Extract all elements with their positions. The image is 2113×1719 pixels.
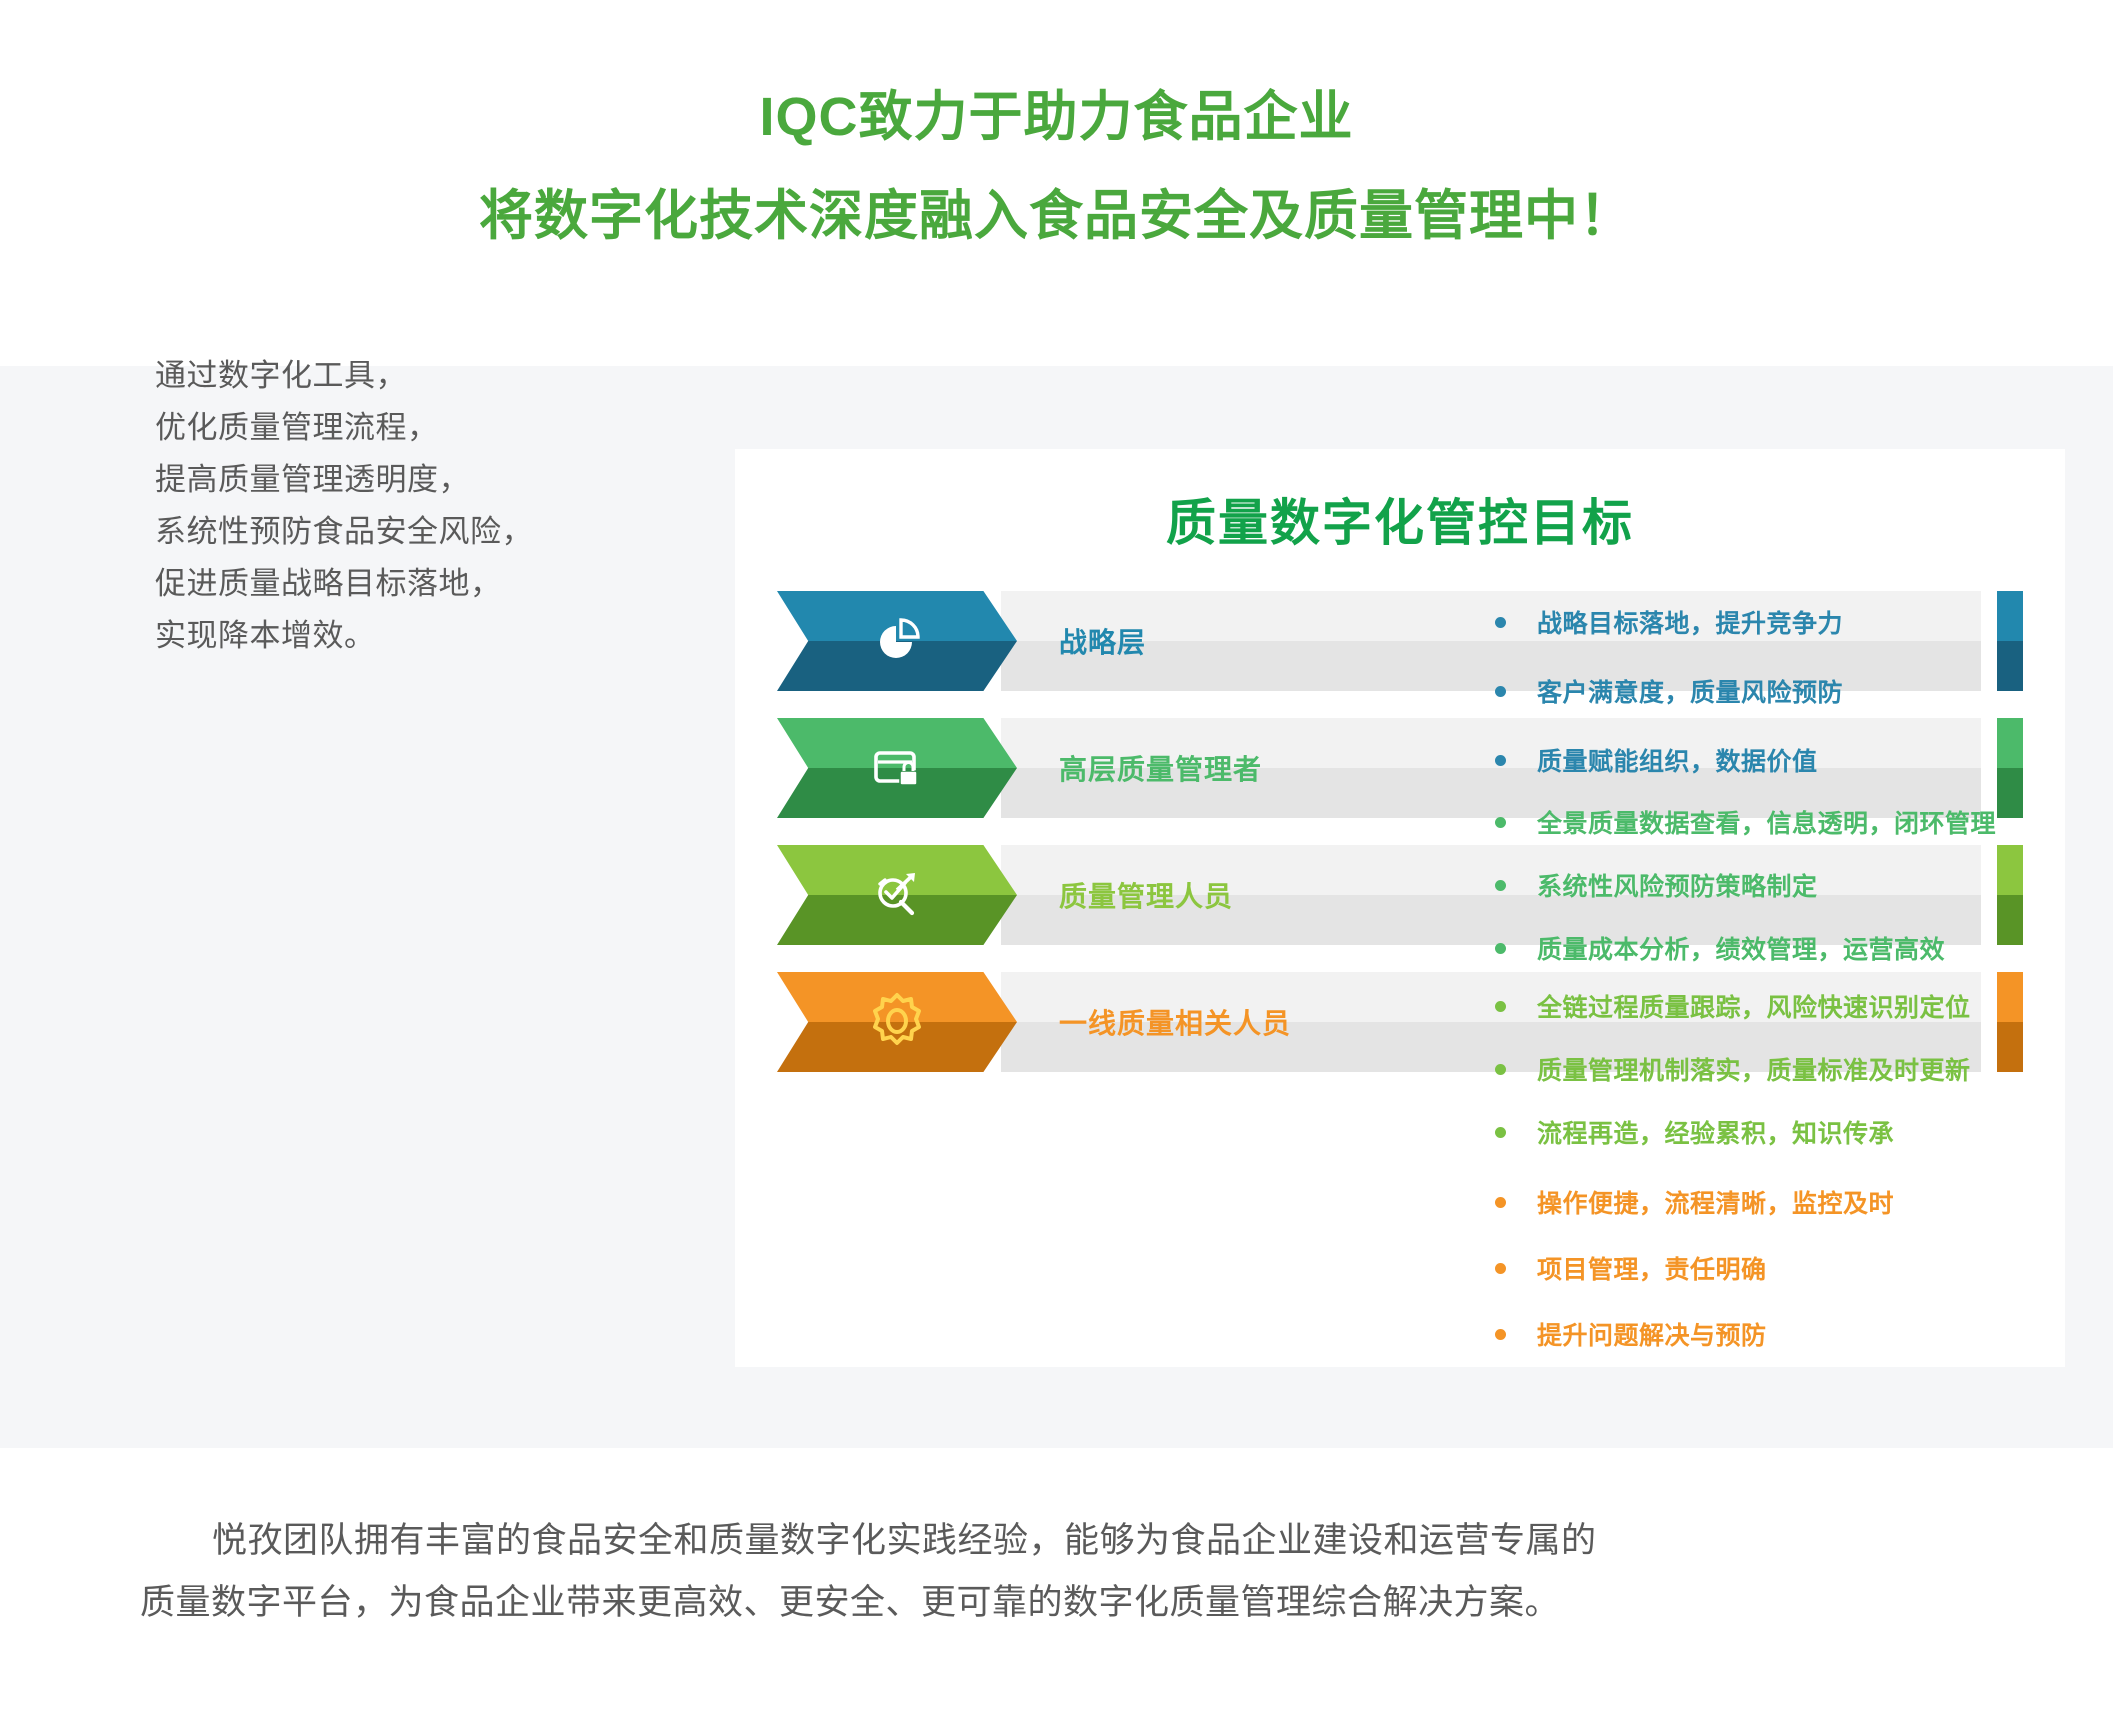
intro-line: 促进质量战略目标落地， xyxy=(155,558,675,610)
bullet-item: 质量赋能组织，数据价值 xyxy=(1495,742,2075,778)
bullet-dot-icon xyxy=(1495,817,1506,828)
chevron-label-frontline: 一线质量相关人员 xyxy=(1001,1002,1291,1042)
headline-line-1: IQC致力于助力食品企业 xyxy=(759,88,1353,147)
bullet-item: 客户满意度，质量风险预防 xyxy=(1495,673,2075,709)
bullet-item: 质量管理机制落实，质量标准及时更新 xyxy=(1495,1051,2075,1087)
bullet-dot-icon xyxy=(1495,755,1506,766)
footer-line-1: 悦孜团队拥有丰富的食品安全和质量数字化实践经验，能够为食品企业建设和运营专属的 xyxy=(140,1510,1973,1572)
headline-line-2: 将数字化技术深度融入食品安全及质量管理中！ xyxy=(479,187,1634,246)
bullet-text: 流程再造，经验累积，知识传承 xyxy=(1537,1114,1894,1150)
bullet-text: 质量赋能组织，数据价值 xyxy=(1537,742,1818,778)
bullet-text: 全景质量数据查看，信息透明，闭环管理 xyxy=(1537,804,1996,840)
bullet-item: 战略目标落地，提升竞争力 xyxy=(1495,604,2075,640)
bullet-dot-icon xyxy=(1495,1127,1506,1138)
intro-paragraph: 通过数字化工具， 优化质量管理流程， 提高质量管理透明度， 系统性预防食品安全风… xyxy=(155,350,675,662)
pie-chart-icon xyxy=(866,608,928,675)
bullet-dot-icon xyxy=(1495,1064,1506,1075)
intro-line: 提高质量管理透明度， xyxy=(155,454,675,506)
bullet-dot-icon xyxy=(1495,943,1506,954)
bullet-dot-icon xyxy=(1495,1329,1506,1340)
bullet-column: 战略目标落地，提升竞争力 客户满意度，质量风险预防 质量赋能组织，数据价值 全景… xyxy=(1495,604,2075,1352)
chevron-label-senior-manager: 高层质量管理者 xyxy=(1001,748,1262,788)
bullet-text: 操作便捷，流程清晰，监控及时 xyxy=(1537,1184,1894,1220)
bullet-group-senior-manager: 全景质量数据查看，信息透明，闭环管理 系统性风险预防策略制定 质量成本分析，绩效… xyxy=(1495,804,2075,966)
intro-line: 系统性预防食品安全风险， xyxy=(155,506,675,558)
chevron-shape-quality-staff xyxy=(777,845,1017,945)
target-arrow-icon xyxy=(866,862,928,929)
bullet-dot-icon xyxy=(1495,1263,1506,1274)
bullet-group-quality-staff: 全链过程质量跟踪，风险快速识别定位 质量管理机制落实，质量标准及时更新 流程再造… xyxy=(1495,988,2075,1150)
bullet-text: 系统性风险预防策略制定 xyxy=(1537,867,1818,903)
bullet-item: 操作便捷，流程清晰，监控及时 xyxy=(1495,1184,2075,1220)
bullet-item: 全链过程质量跟踪，风险快速识别定位 xyxy=(1495,988,2075,1024)
bullet-group-frontline: 操作便捷，流程清晰，监控及时 项目管理，责任明确 提升问题解决与预防 xyxy=(1495,1184,2075,1352)
bullet-group-strategy: 战略目标落地，提升竞争力 客户满意度，质量风险预防 质量赋能组织，数据价值 xyxy=(1495,604,2075,778)
bullet-item: 提升问题解决与预防 xyxy=(1495,1316,2075,1352)
bullet-dot-icon xyxy=(1495,1197,1506,1208)
bullet-item: 流程再造，经验累积，知识传承 xyxy=(1495,1114,2075,1150)
bullet-dot-icon xyxy=(1495,1001,1506,1012)
chevron-shape-strategy xyxy=(777,591,1017,691)
bullet-item: 项目管理，责任明确 xyxy=(1495,1250,2075,1286)
bullet-item: 全景质量数据查看，信息透明，闭环管理 xyxy=(1495,804,2075,840)
chevron-label-strategy: 战略层 xyxy=(1001,621,1146,661)
bullet-text: 提升问题解决与预防 xyxy=(1537,1316,1767,1352)
bullet-text: 质量成本分析，绩效管理，运营高效 xyxy=(1537,930,1945,966)
page-root: IQC致力于助力食品企业 将数字化技术深度融入食品安全及质量管理中！ 通过数字化… xyxy=(0,0,2113,1719)
intro-line: 通过数字化工具， xyxy=(155,350,675,402)
bullet-item: 质量成本分析，绩效管理，运营高效 xyxy=(1495,930,2075,966)
chevron-label-quality-staff: 质量管理人员 xyxy=(1001,875,1233,915)
bullet-dot-icon xyxy=(1495,686,1506,697)
chevron-shape-frontline xyxy=(777,972,1017,1072)
footer-line-2: 质量数字平台，为食品企业带来更高效、更安全、更可靠的数字化质量管理综合解决方案。 xyxy=(140,1572,1973,1634)
bullet-text: 质量管理机制落实，质量标准及时更新 xyxy=(1537,1051,1971,1087)
bullet-dot-icon xyxy=(1495,617,1506,628)
chevron-shape-senior-manager xyxy=(777,718,1017,818)
bullet-text: 全链过程质量跟踪，风险快速识别定位 xyxy=(1537,988,1971,1024)
bullet-dot-icon xyxy=(1495,880,1506,891)
footer-paragraph: 悦孜团队拥有丰富的食品安全和质量数字化实践经验，能够为食品企业建设和运营专属的 … xyxy=(0,1510,2113,1634)
bullet-text: 战略目标落地，提升竞争力 xyxy=(1537,604,1843,640)
card-title: 质量数字化管控目标 xyxy=(735,449,2065,555)
intro-line: 优化质量管理流程， xyxy=(155,402,675,454)
card-lock-icon xyxy=(866,735,928,802)
gear-icon xyxy=(864,987,930,1058)
bullet-item: 系统性风险预防策略制定 xyxy=(1495,867,2075,903)
bullet-text: 项目管理，责任明确 xyxy=(1537,1250,1767,1286)
headline-section: IQC致力于助力食品企业 将数字化技术深度融入食品安全及质量管理中！ xyxy=(0,0,2113,366)
bullet-text: 客户满意度，质量风险预防 xyxy=(1537,673,1843,709)
intro-line: 实现降本增效。 xyxy=(155,610,675,662)
